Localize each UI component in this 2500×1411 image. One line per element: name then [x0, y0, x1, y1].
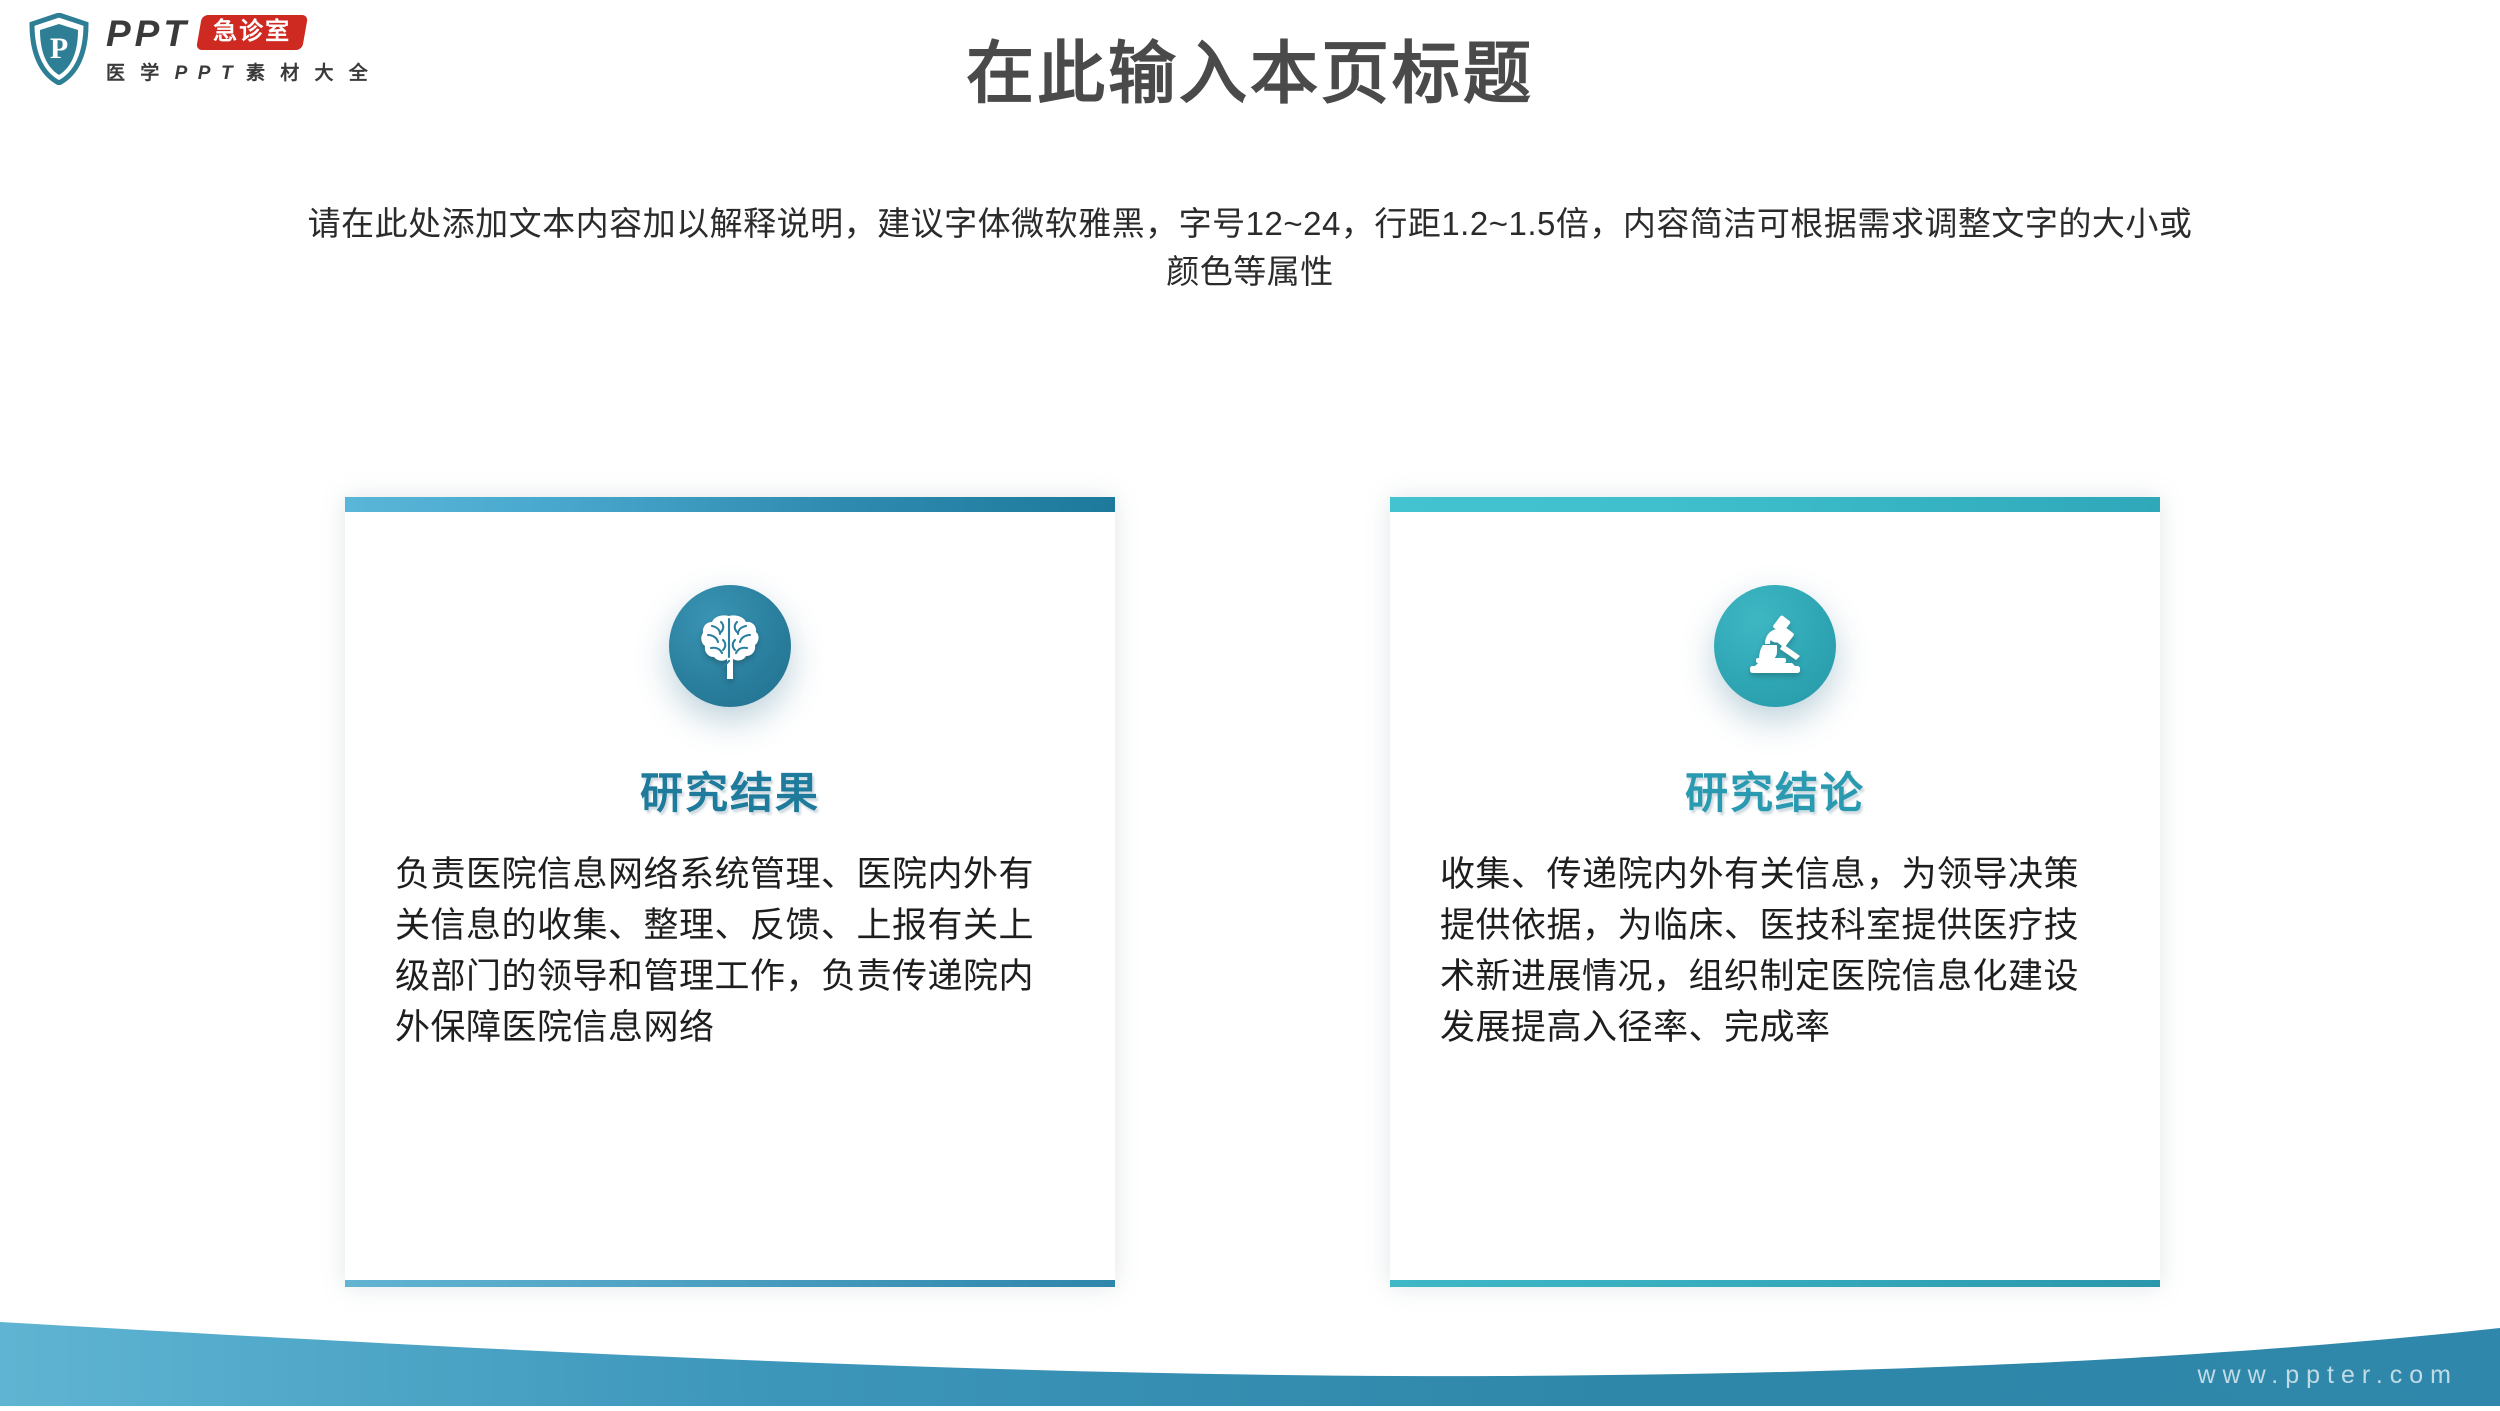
microscope-icon	[1714, 585, 1836, 707]
page-title: 在此输入本页标题	[0, 34, 2500, 116]
card-top-accent-bar	[1390, 497, 2160, 512]
footer-wave-decoration: www.ppter.com	[0, 1286, 2500, 1406]
watermark-text: www.ppter.com	[2197, 1361, 2458, 1390]
card-body-text: 负责医院信息网络系统管理、医院内外有关信息的收集、整理、反馈、上报有关上级部门的…	[395, 849, 1067, 1053]
page-subtitle: 请在此处添加文本内容加以解释说明，建议字体微软雅黑，字号12~24，行距1.2~…	[300, 200, 2200, 296]
brain-icon	[669, 585, 791, 707]
card-body-text: 收集、传递院内外有关信息，为领导决策提供依据，为临床、医技科室提供医疗技术新进展…	[1440, 849, 2112, 1053]
card-heading: 研究结论	[1390, 759, 2160, 821]
card-research-results[interactable]: 研究结果 负责医院信息网络系统管理、医院内外有关信息的收集、整理、反馈、上报有关…	[345, 497, 1115, 1287]
card-top-accent-bar	[345, 497, 1115, 512]
card-heading: 研究结果	[345, 759, 1115, 821]
card-research-conclusion[interactable]: 研究结论 收集、传递院内外有关信息，为领导决策提供依据，为临床、医技科室提供医疗…	[1390, 497, 2160, 1287]
